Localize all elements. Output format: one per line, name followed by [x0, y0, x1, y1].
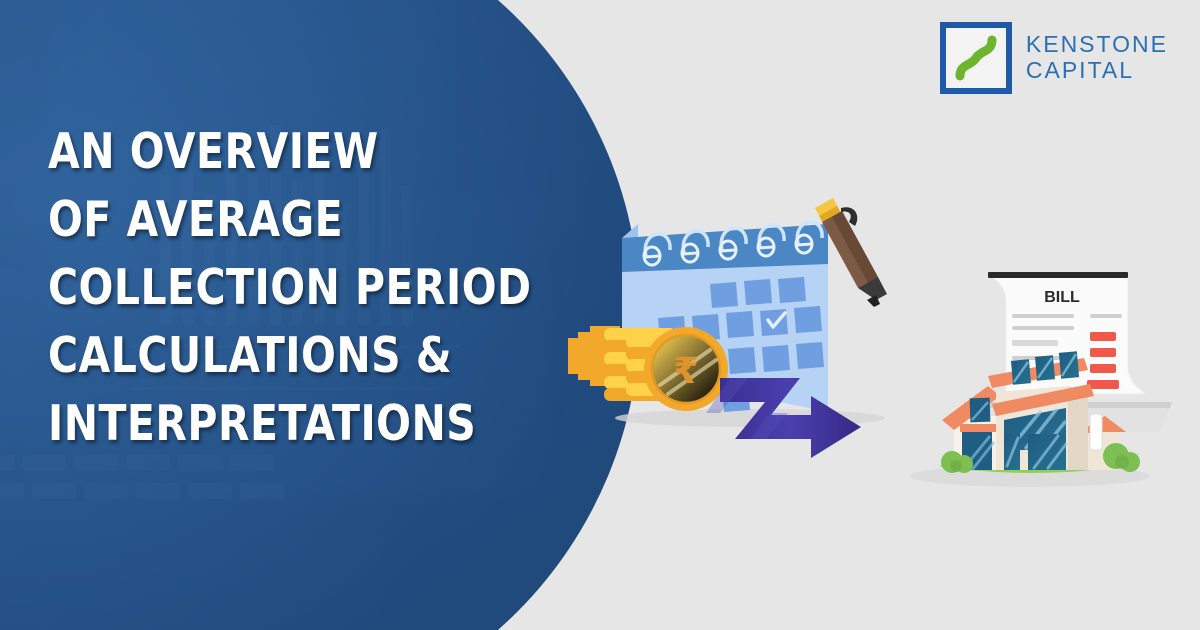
coin-stack: ₹ — [568, 326, 728, 411]
brand-line-2: CAPITAL — [1026, 58, 1168, 84]
rupee-coin: ₹ — [644, 327, 728, 411]
title-line-2: OF AVERAGE — [48, 186, 532, 254]
brand-logo-text: KENSTONE CAPITAL — [1026, 32, 1168, 84]
bill-title: BILL — [1044, 289, 1080, 306]
rupee-symbol: ₹ — [673, 351, 698, 392]
title-line-3: COLLECTION PERIOD — [48, 254, 532, 322]
bill-top-bar — [988, 272, 1128, 278]
title-line-1: AN OVERVIEW — [48, 118, 532, 186]
building-door — [1090, 414, 1102, 450]
poster-canvas: AN OVERVIEW OF AVERAGE COLLECTION PERIOD… — [0, 0, 1200, 630]
brand-logo[interactable]: KENSTONE CAPITAL — [940, 22, 1168, 94]
kenstone-s-curve-logo-icon — [940, 22, 1012, 94]
brand-line-1: KENSTONE — [1026, 32, 1168, 58]
title-line-4: CALCULATIONS & — [48, 322, 532, 390]
title-line-5: INTERPRETATIONS — [48, 390, 532, 458]
page-title: AN OVERVIEW OF AVERAGE COLLECTION PERIOD… — [48, 118, 532, 458]
average-collection-period-illustration: ₹ BILL — [560, 180, 1200, 510]
